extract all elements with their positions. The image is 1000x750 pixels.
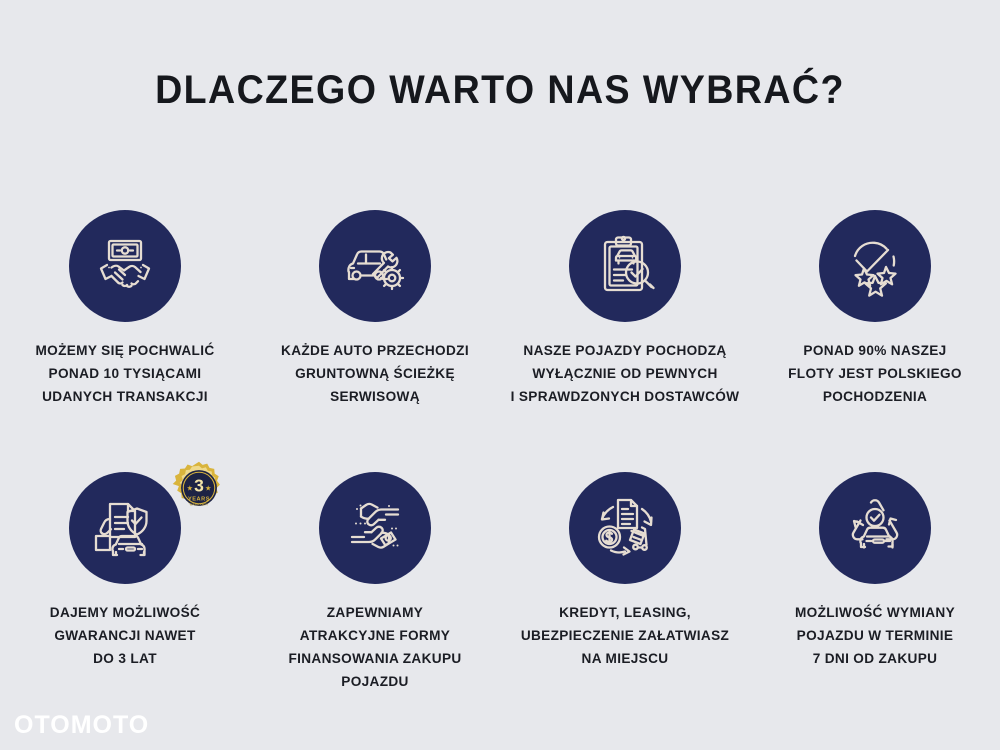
handshake-money-icon	[69, 210, 181, 322]
icon-wrap-5: 3 YEARS WARRANTY	[69, 472, 181, 584]
caption-line: KREDYT, LEASING,	[506, 602, 744, 625]
icon-wrap-8	[819, 472, 931, 584]
caption-line: POCHODZENIA	[756, 386, 994, 409]
icon-wrap-4	[819, 210, 931, 322]
caption-line: NA MIEJSCU	[506, 648, 744, 671]
caption-line: GRUNTOWNĄ ŚCIEŻKĘ	[256, 363, 494, 386]
otomoto-logo: OTOMOTO	[14, 710, 149, 740]
otomoto-logo-text: OTOMOTO	[14, 711, 149, 740]
caption-line: PONAD 90% NASZEJ	[756, 340, 994, 363]
svg-text:WARRANTY: WARRANTY	[190, 503, 209, 507]
feature-item-4: PONAD 90% NASZEJ FLOTY JEST POLSKIEGO PO…	[750, 200, 1000, 462]
feature-item-2: KAŻDE AUTO PRZECHODZI GRUNTOWNĄ ŚCIEŻKĘ …	[250, 200, 500, 462]
icon-wrap-2	[319, 210, 431, 322]
caption-line: POJAZDU	[256, 671, 494, 694]
features-grid: MOŻEMY SIĘ POCHWALIĆ PONAD 10 TYSIĄCAMI …	[0, 200, 1000, 724]
icon-wrap-7	[569, 472, 681, 584]
feature-caption-7: KREDYT, LEASING, UBEZPIECZENIE ZAŁATWIAS…	[506, 602, 744, 671]
hands-money-exchange-icon	[319, 472, 431, 584]
feature-caption-6: ZAPEWNIAMY ATRAKCYJNE FORMY FINANSOWANIA…	[256, 602, 494, 694]
feature-item-1: MOŻEMY SIĘ POCHWALIĆ PONAD 10 TYSIĄCAMI …	[0, 200, 250, 462]
check-stars-icon	[819, 210, 931, 322]
caption-line: DO 3 LAT	[6, 648, 244, 671]
caption-line: UBEZPIECZENIE ZAŁATWIASZ	[506, 625, 744, 648]
icon-wrap-1	[69, 210, 181, 322]
feature-caption-8: MOŻLIWOŚĆ WYMIANY POJAZDU W TERMINIE 7 D…	[756, 602, 994, 671]
caption-line: MOŻEMY SIĘ POCHWALIĆ	[6, 340, 244, 363]
feature-caption-3: NASZE POJAZDY POCHODZĄ WYŁĄCZNIE OD PEWN…	[506, 340, 744, 409]
feature-item-3: NASZE POJAZDY POCHODZĄ WYŁĄCZNIE OD PEWN…	[500, 200, 750, 462]
finance-cycle-icon	[569, 472, 681, 584]
caption-line: SERWISOWĄ	[256, 386, 494, 409]
svg-text:3: 3	[194, 476, 204, 496]
icon-wrap-6	[319, 472, 431, 584]
feature-caption-5: DAJEMY MOŻLIWOŚĆ GWARANCJI NAWET DO 3 LA…	[6, 602, 244, 671]
icon-wrap-3	[569, 210, 681, 322]
promo-banner: DLACZEGO WARTO NAS WYBRAĆ?	[0, 0, 1000, 750]
caption-line: ATRAKCYJNE FORMY	[256, 625, 494, 648]
caption-line: GWARANCJI NAWET	[6, 625, 244, 648]
feature-item-8: MOŻLIWOŚĆ WYMIANY POJAZDU W TERMINIE 7 D…	[750, 462, 1000, 724]
caption-line: ZAPEWNIAMY	[256, 602, 494, 625]
feature-item-6: ZAPEWNIAMY ATRAKCYJNE FORMY FINANSOWANIA…	[250, 462, 500, 724]
feature-item-7: KREDYT, LEASING, UBEZPIECZENIE ZAŁATWIAS…	[500, 462, 750, 724]
page-title: DLACZEGO WARTO NAS WYBRAĆ?	[30, 68, 970, 113]
caption-line: WYŁĄCZNIE OD PEWNYCH	[506, 363, 744, 386]
caption-line: 7 DNI OD ZAKUPU	[756, 648, 994, 671]
feature-caption-4: PONAD 90% NASZEJ FLOTY JEST POLSKIEGO PO…	[756, 340, 994, 409]
caption-line: POJAZDU W TERMINIE	[756, 625, 994, 648]
caption-line: I SPRAWDZONYCH DOSTAWCÓW	[506, 386, 744, 409]
caption-line: FINANSOWANIA ZAKUPU	[256, 648, 494, 671]
feature-item-5: 3 YEARS WARRANTY DAJEMY MOŻLIWOŚĆ GWARAN…	[0, 462, 250, 724]
feature-caption-1: MOŻEMY SIĘ POCHWALIĆ PONAD 10 TYSIĄCAMI …	[6, 340, 244, 409]
car-wrench-gear-icon	[319, 210, 431, 322]
caption-line: DAJEMY MOŻLIWOŚĆ	[6, 602, 244, 625]
caption-line: PONAD 10 TYSIĄCAMI	[6, 363, 244, 386]
clipboard-car-magnifier-icon	[569, 210, 681, 322]
warranty-document-car-icon	[69, 472, 181, 584]
caption-line: FLOTY JEST POLSKIEGO	[756, 363, 994, 386]
feature-caption-2: KAŻDE AUTO PRZECHODZI GRUNTOWNĄ ŚCIEŻKĘ …	[256, 340, 494, 409]
caption-line: MOŻLIWOŚĆ WYMIANY	[756, 602, 994, 625]
car-exchange-check-icon	[819, 472, 931, 584]
caption-line: UDANYCH TRANSAKCJI	[6, 386, 244, 409]
caption-line: KAŻDE AUTO PRZECHODZI	[256, 340, 494, 363]
warranty-3-years-badge: 3 YEARS WARRANTY	[171, 460, 227, 516]
caption-line: NASZE POJAZDY POCHODZĄ	[506, 340, 744, 363]
